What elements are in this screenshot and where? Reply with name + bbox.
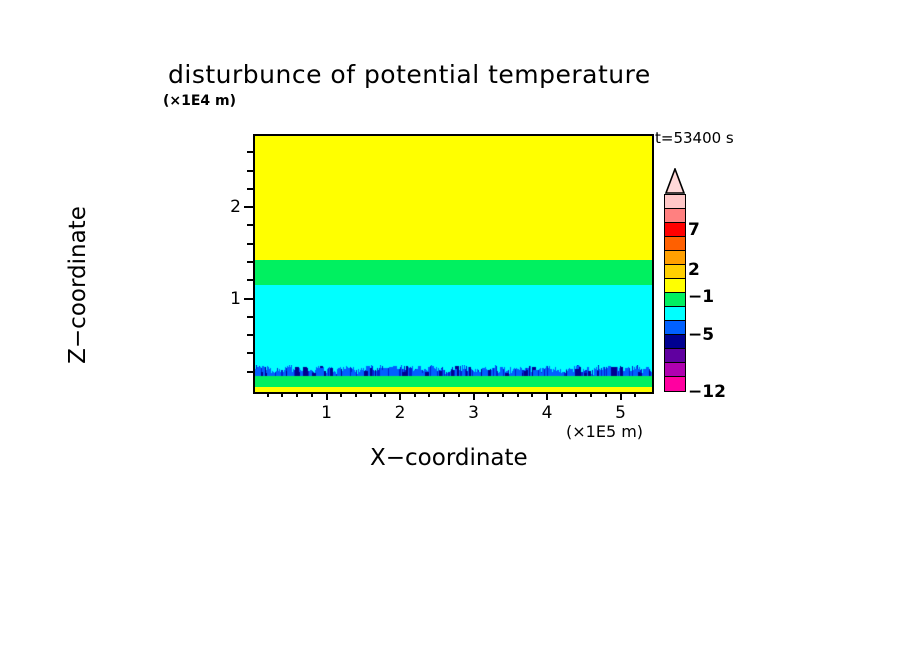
- colorbar-band: [665, 377, 685, 391]
- y-tick: [247, 334, 253, 336]
- x-tick: [326, 392, 328, 400]
- band-upper-yellow: [255, 136, 652, 260]
- x-tick: [531, 392, 533, 397]
- y-axis-unit-label: (×1E4 m): [163, 93, 236, 109]
- x-tick: [281, 392, 283, 397]
- y-axis-title: Z−coordinate: [65, 155, 91, 415]
- y-tick: [247, 170, 253, 172]
- x-tick: [517, 392, 519, 397]
- x-tick: [502, 392, 504, 397]
- x-tick: [370, 392, 372, 397]
- band-lower-cyan: [255, 285, 652, 373]
- y-tick: [244, 298, 253, 300]
- colorbar-band: [665, 265, 685, 279]
- y-tick: [244, 206, 253, 208]
- x-tick: [487, 392, 489, 397]
- y-tick: [247, 352, 253, 354]
- colorbar-tick-label: −5: [688, 325, 714, 345]
- colorbar-tick-label: 7: [688, 220, 700, 240]
- x-tick: [620, 392, 622, 400]
- time-annotation: t=53400 s: [655, 129, 734, 147]
- y-tick: [247, 371, 253, 373]
- colorbar-band: [665, 321, 685, 335]
- x-tick: [340, 392, 342, 397]
- colorbar-band: [665, 279, 685, 293]
- y-tick: [247, 316, 253, 318]
- colorbar-band: [665, 293, 685, 307]
- x-tick-label: 4: [542, 403, 553, 423]
- colorbar-band: [665, 195, 685, 209]
- x-tick: [634, 392, 636, 397]
- x-tick-label: 1: [321, 403, 332, 423]
- y-tick: [247, 243, 253, 245]
- y-tick: [247, 279, 253, 281]
- x-tick: [384, 392, 386, 397]
- x-tick: [296, 392, 298, 397]
- x-tick: [458, 392, 460, 397]
- x-tick: [546, 392, 548, 400]
- x-axis-unit-label: (×1E5 m): [566, 422, 643, 441]
- y-tick-label: 2: [215, 197, 241, 217]
- y-tick: [247, 188, 253, 190]
- x-tick: [311, 392, 313, 397]
- x-tick: [473, 392, 475, 400]
- colorbar-tick-label: 2: [688, 260, 700, 280]
- y-tick-label: 1: [215, 289, 241, 309]
- y-tick: [247, 224, 253, 226]
- band-mid-green: [255, 260, 652, 285]
- page-title: disturbunce of potential temperature: [168, 60, 651, 89]
- x-tick-label: 5: [615, 403, 626, 423]
- x-tick: [443, 392, 445, 397]
- y-tick: [247, 261, 253, 263]
- x-tick-label: 3: [468, 403, 479, 423]
- x-tick: [267, 392, 269, 397]
- colorbar-band: [665, 251, 685, 265]
- x-tick: [399, 392, 401, 400]
- colorbar-band: [665, 335, 685, 349]
- x-tick: [414, 392, 416, 397]
- figure-canvas: disturbunce of potential temperature (×1…: [0, 0, 904, 654]
- colorbar-band: [665, 237, 685, 251]
- band-surface-yellow: [255, 387, 652, 392]
- x-tick: [428, 392, 430, 397]
- colorbar-band: [665, 223, 685, 237]
- x-tick: [355, 392, 357, 397]
- colorbar-band: [665, 209, 685, 223]
- x-tick: [605, 392, 607, 397]
- colorbar-tick-label: −12: [688, 382, 726, 402]
- turbulent-boundary-layer: [255, 365, 652, 382]
- x-tick: [590, 392, 592, 397]
- x-tick: [561, 392, 563, 397]
- x-axis-title: X−coordinate: [370, 445, 528, 471]
- x-tick: [575, 392, 577, 397]
- colorbar-band: [665, 349, 685, 363]
- colorbar-tick-label: −1: [688, 287, 714, 307]
- x-tick-label: 2: [395, 403, 406, 423]
- colorbar-band: [665, 363, 685, 377]
- colorbar-arrow-icon: [664, 168, 686, 194]
- colorbar-bands: [664, 194, 686, 392]
- y-tick: [247, 151, 253, 153]
- plot-area: [253, 134, 654, 394]
- colorbar-band: [665, 307, 685, 321]
